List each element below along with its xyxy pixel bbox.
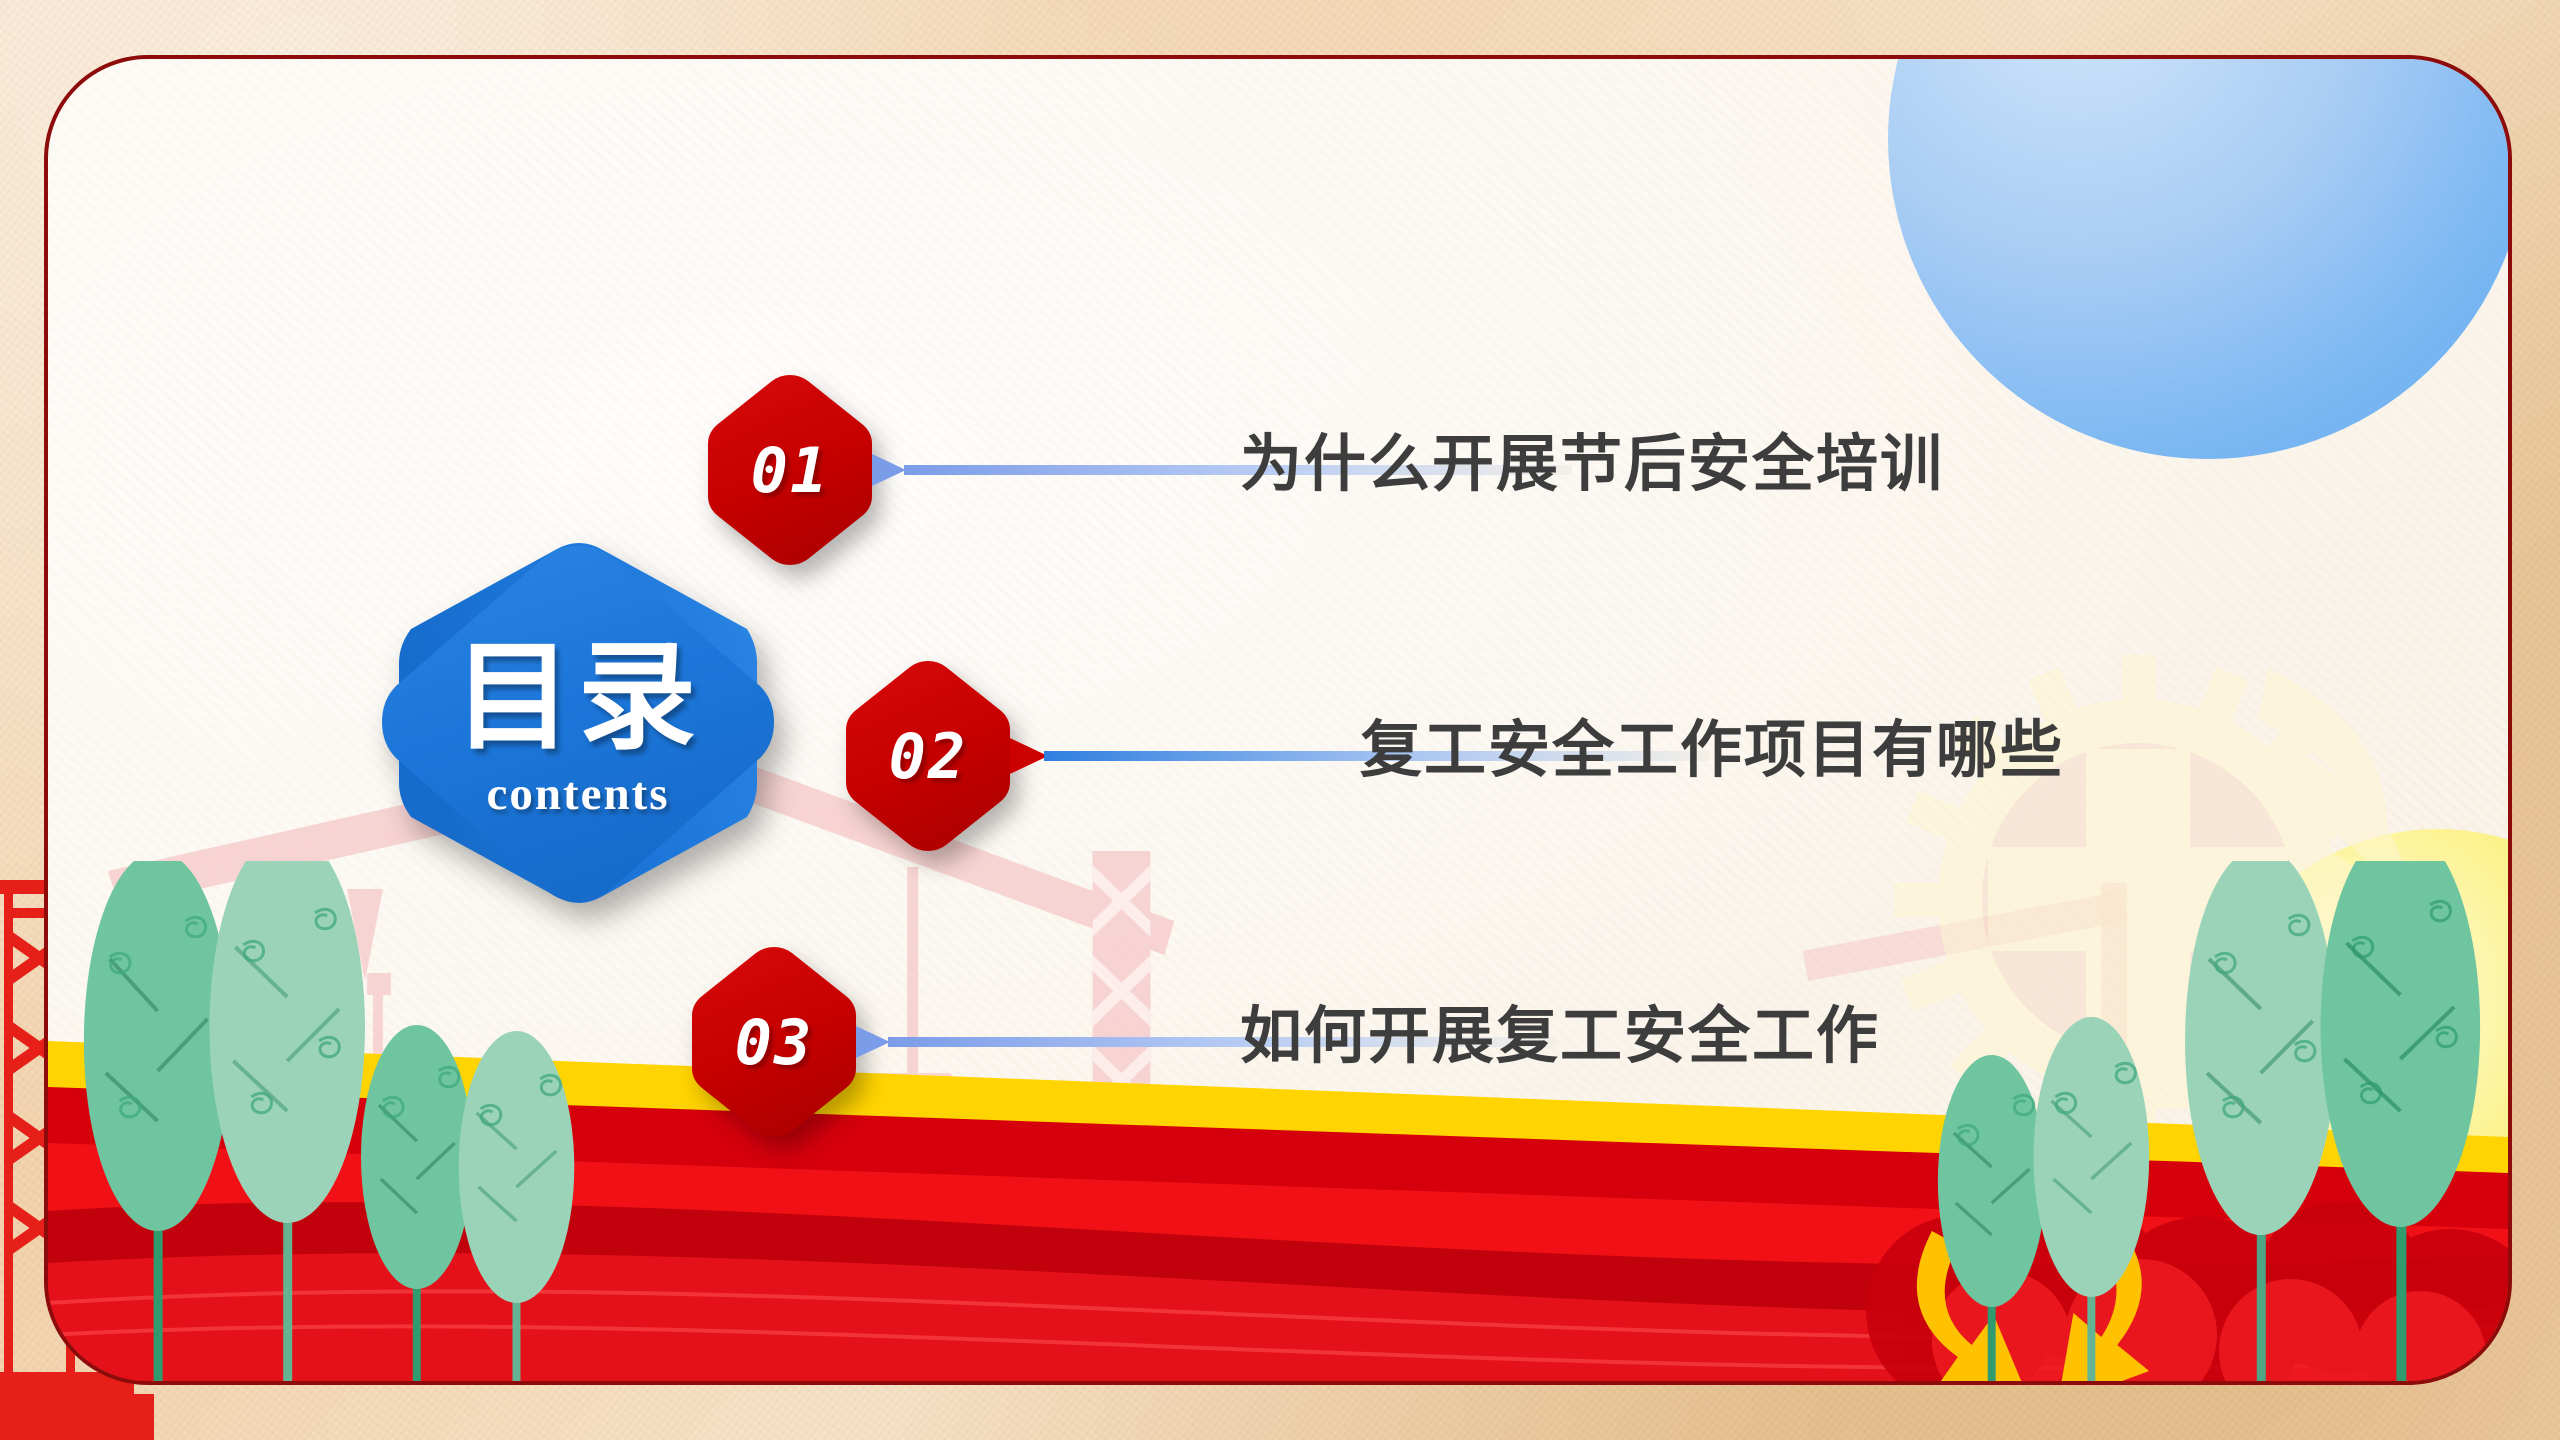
- toc-row-1: 01 为什么开展节后安全培训: [0, 372, 2560, 612]
- toc-title-02[interactable]: 复工安全工作项目有哪些: [1360, 720, 2064, 782]
- toc-title-03[interactable]: 如何开展复工安全工作: [1240, 1006, 1880, 1068]
- toc-row-3: 03 如何开展复工安全工作: [0, 944, 2560, 1184]
- toc-content: 目录 contents 01: [0, 0, 2560, 1440]
- badge-hexagon-03[interactable]: [690, 944, 858, 1140]
- toc-title-01[interactable]: 为什么开展节后安全培训: [1240, 434, 1944, 496]
- badge-hexagon-02[interactable]: [844, 658, 1012, 854]
- badge-hexagon-01[interactable]: [706, 372, 874, 568]
- toc-row-2: 02 复工安全工作项目有哪些: [0, 658, 2560, 898]
- slide-root: 目录 contents 01: [0, 0, 2560, 1440]
